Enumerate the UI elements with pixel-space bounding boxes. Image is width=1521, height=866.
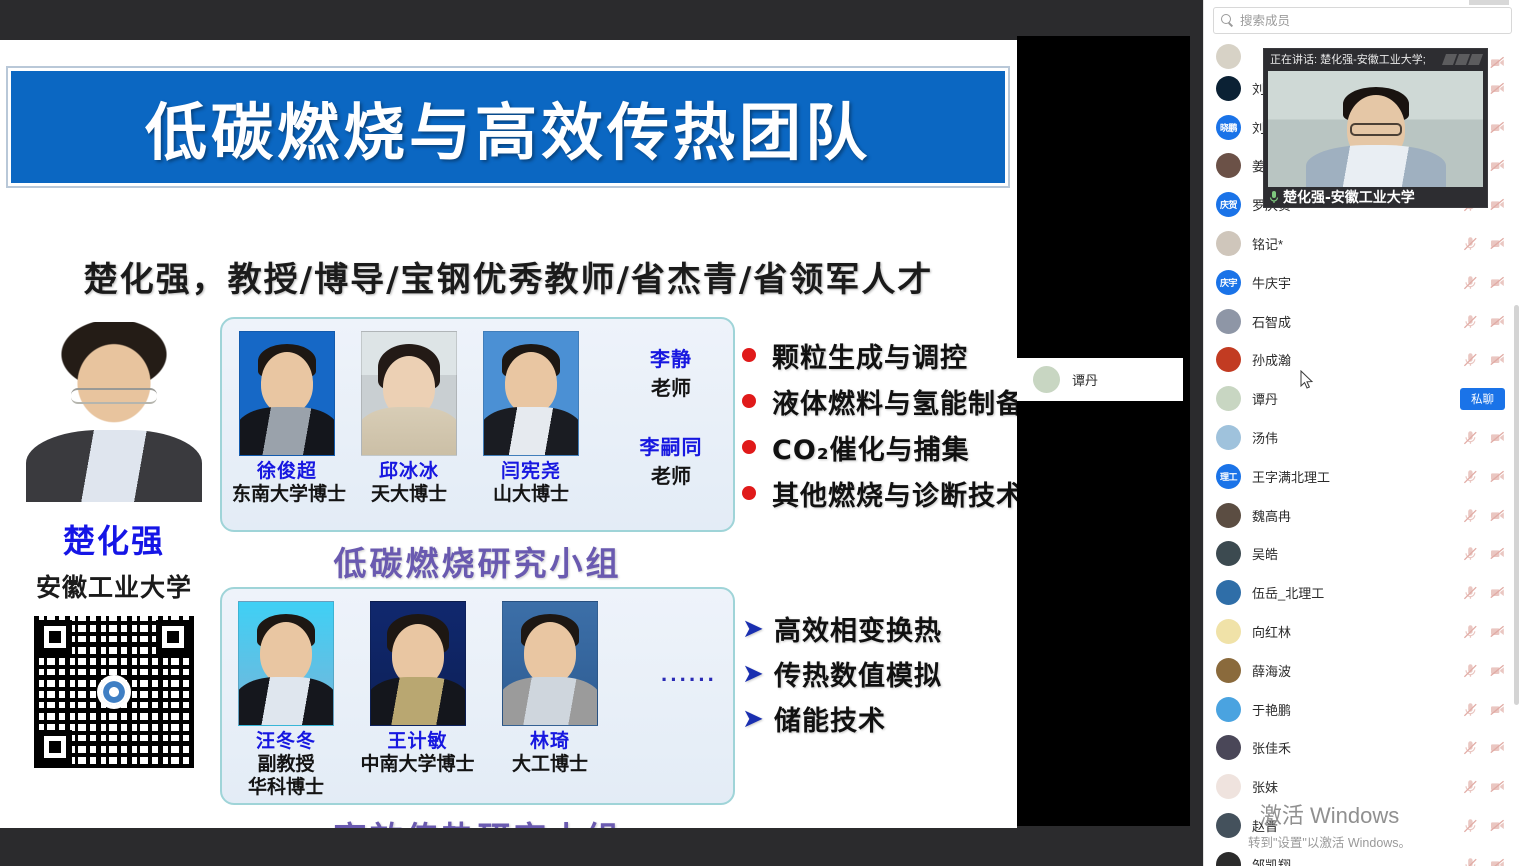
research-topics-list-2: ➤高效相变换热 ➤传热数值模拟 ➤储能技术: [742, 606, 942, 741]
pinned-participant-name: 谭丹: [1072, 370, 1183, 389]
topic-label: 其他燃烧与诊断技术: [772, 474, 1017, 513]
mic-muted-icon[interactable]: [1463, 509, 1478, 522]
participant-row[interactable]: 吴皓: [1204, 535, 1521, 574]
topic-label: CO₂催化与捕集: [772, 428, 970, 467]
participant-row-icons: [1463, 547, 1505, 560]
mic-muted-icon[interactable]: [1463, 819, 1478, 832]
video-off-icon[interactable]: [1490, 509, 1505, 522]
participant-row-icons: [1463, 819, 1505, 832]
teacher-name: 李静: [621, 343, 721, 372]
topic-label: 颗粒生成与调控: [772, 336, 968, 375]
video-off-icon[interactable]: [1490, 586, 1505, 599]
member-detail: 天大博士: [354, 483, 464, 506]
participant-row[interactable]: 石智成: [1204, 302, 1521, 341]
participant-row[interactable]: 薛海波: [1204, 651, 1521, 690]
topic-label: 储能技术: [774, 699, 886, 738]
video-off-icon[interactable]: [1490, 780, 1505, 793]
participant-row-icons: [1463, 858, 1505, 866]
mic-muted-icon[interactable]: [1463, 431, 1478, 444]
search-area: [1204, 0, 1521, 34]
mic-muted-icon[interactable]: [1463, 664, 1478, 677]
participant-row-icons: [1463, 315, 1505, 328]
topic-label: 传热数值模拟: [774, 654, 942, 693]
research-topic-item: 颗粒生成与调控: [742, 332, 1017, 378]
participant-row-icons: [1463, 780, 1505, 793]
more-members-ellipsis: ······: [661, 667, 717, 693]
participant-row[interactable]: 张妹: [1204, 767, 1521, 806]
slide-subtitle: 楚化强，教授/博导/宝钢优秀教师/省杰青/省领军人才: [0, 252, 1017, 301]
app-root: 低碳燃烧与高效传热团队 楚化强，教授/博导/宝钢优秀教师/省杰青/省领军人才 楚…: [0, 0, 1521, 866]
member-card: 汪冬冬 副教授 华科博士: [230, 601, 342, 798]
participant-row-icons: [1463, 237, 1505, 250]
mic-muted-icon[interactable]: [1463, 315, 1478, 328]
window-controls-icon[interactable]: [1444, 54, 1481, 65]
participant-row-icons: [1463, 741, 1505, 754]
active-speaker-label: 正在讲话: 楚化强-安徽工业大学;: [1270, 51, 1426, 67]
member-card: 林琦 大工博士: [494, 601, 606, 776]
research-topic-item: ➤传热数值模拟: [742, 651, 942, 696]
video-off-icon[interactable]: [1490, 121, 1505, 134]
member-card: 王计敏 中南大学博士: [355, 601, 480, 776]
member-card: 邱冰冰 天大博士: [354, 331, 464, 506]
video-off-icon[interactable]: [1490, 664, 1505, 677]
participant-row-icons: [1463, 276, 1505, 289]
mic-muted-icon[interactable]: [1463, 237, 1478, 250]
qr-code-image: [34, 616, 194, 768]
participant-name: 汤伟: [1252, 428, 1463, 447]
avatar: [1216, 309, 1241, 334]
research-group-1-box: 徐俊超 东南大学博士 邱冰冰 天大博士: [220, 317, 735, 532]
participant-name: 石智成: [1252, 312, 1463, 331]
video-off-icon[interactable]: [1490, 56, 1505, 69]
avatar: [1216, 153, 1241, 178]
participant-row[interactable]: 孙成瀚: [1204, 341, 1521, 380]
avatar: 庆宇: [1216, 270, 1241, 295]
mic-muted-icon[interactable]: [1463, 547, 1478, 560]
bullet-dot-icon: [742, 486, 756, 500]
mic-muted-icon[interactable]: [1463, 703, 1478, 716]
participant-name: 牛庆宇: [1252, 273, 1463, 292]
participant-row[interactable]: 赵晋: [1204, 806, 1521, 845]
topic-label: 液体燃料与氢能制备: [772, 382, 1017, 421]
participant-row[interactable]: 汤伟: [1204, 418, 1521, 457]
panel-top-stub: [1469, 0, 1509, 5]
mic-on-icon: [1269, 190, 1279, 204]
speaker-name: 楚化强-安徽工业大学: [1283, 187, 1415, 207]
participant-name: 王字满北理工: [1252, 467, 1463, 486]
participant-row[interactable]: 伍岳_北理工: [1204, 573, 1521, 612]
avatar: 庆贺: [1216, 192, 1241, 217]
research-topics-list-1: 颗粒生成与调控 液体燃料与氢能制备 CO₂催化与捕集 其他燃烧与诊断技术: [742, 332, 1017, 516]
member-photo: [361, 331, 457, 456]
participant-row[interactable]: 邹凯翔: [1204, 845, 1521, 866]
video-off-icon[interactable]: [1490, 159, 1505, 172]
video-off-icon[interactable]: [1490, 431, 1505, 444]
avatar: [1216, 813, 1241, 838]
participant-row-icons: [1463, 470, 1505, 483]
avatar: [1216, 425, 1241, 450]
member-detail: 中南大学博士: [355, 753, 480, 776]
avatar: [1033, 366, 1060, 393]
video-off-icon[interactable]: [1490, 703, 1505, 716]
video-off-icon[interactable]: [1490, 625, 1505, 638]
member-detail: 大工博士: [494, 753, 606, 776]
member-photo: [502, 601, 598, 726]
participant-row[interactable]: 庆宇牛庆宇: [1204, 263, 1521, 302]
research-group-2-box: 汪冬冬 副教授 华科博士 王计敏 中南大学博士: [220, 587, 735, 805]
avatar: 理工: [1216, 464, 1241, 489]
chevron-right-icon: ➤: [742, 616, 760, 642]
avatar: [1216, 735, 1241, 760]
video-off-icon[interactable]: [1490, 547, 1505, 560]
member-detail: 东南大学博士: [232, 483, 342, 506]
video-off-icon[interactable]: [1490, 237, 1505, 250]
participant-name: 于艳鹏: [1252, 700, 1463, 719]
participant-name: 张妹: [1252, 777, 1463, 796]
bullet-dot-icon: [742, 394, 756, 408]
participant-name: 邹凯翔: [1252, 855, 1463, 866]
video-feed: [1268, 71, 1483, 187]
search-icon: [1221, 14, 1234, 27]
mic-muted-icon[interactable]: [1463, 780, 1478, 793]
teacher-name: 李嗣同: [621, 431, 721, 460]
member-card: 徐俊超 东南大学博士: [232, 331, 342, 506]
research-topic-item: 其他燃烧与诊断技术: [742, 470, 1017, 516]
member-name: 徐俊超: [232, 461, 342, 483]
video-off-icon[interactable]: [1490, 819, 1505, 832]
participant-row[interactable]: 魏高冉: [1204, 496, 1521, 535]
avatar: [1216, 347, 1241, 372]
leader-name: 楚化强: [16, 516, 212, 562]
video-name-bar: 楚化强-安徽工业大学: [1264, 187, 1487, 207]
video-off-icon[interactable]: [1490, 82, 1505, 95]
participant-row[interactable]: 向红林: [1204, 612, 1521, 651]
avatar: [1216, 774, 1241, 799]
participant-name: 孙成瀚: [1252, 350, 1463, 369]
participant-row-icons: [1463, 586, 1505, 599]
topic-label: 高效相变换热: [774, 609, 942, 648]
leader-organization: 安徽工业大学: [16, 568, 212, 604]
participant-name: 伍岳_北理工: [1252, 583, 1463, 602]
avatar: 晓鹏: [1216, 115, 1241, 140]
shared-screen-stage: 低碳燃烧与高效传热团队 楚化强，教授/博导/宝钢优秀教师/省杰青/省领军人才 楚…: [0, 0, 1190, 866]
avatar: [1216, 658, 1241, 683]
participant-name: 薛海波: [1252, 661, 1463, 680]
mic-muted-icon[interactable]: [1463, 625, 1478, 638]
video-off-icon[interactable]: [1490, 858, 1505, 866]
participant-list-scrollbar[interactable]: [1514, 305, 1519, 705]
search-input[interactable]: [1240, 14, 1504, 28]
teacher-role: 老师: [621, 460, 721, 489]
video-off-icon[interactable]: [1490, 198, 1505, 211]
participant-row[interactable]: 铭记*: [1204, 224, 1521, 263]
participant-name: 张佳禾: [1252, 738, 1463, 757]
private-chat-button[interactable]: 私聊: [1460, 388, 1505, 410]
video-off-icon[interactable]: [1490, 315, 1505, 328]
avatar: [1216, 231, 1241, 256]
mic-muted-icon[interactable]: [1463, 470, 1478, 483]
member-detail-2: 华科博士: [230, 776, 342, 799]
participant-row-icons: [1463, 664, 1505, 677]
slide-title: 低碳燃烧与高效传热团队: [145, 82, 871, 172]
member-photo: [239, 331, 335, 456]
participant-row[interactable]: 于艳鹏: [1204, 690, 1521, 729]
participant-name: 铭记*: [1252, 234, 1463, 253]
research-topic-item: CO₂催化与捕集: [742, 424, 1017, 470]
member-detail: 副教授: [230, 753, 342, 776]
avatar: [1216, 386, 1241, 411]
participant-row-icons: [1463, 431, 1505, 444]
search-box[interactable]: [1213, 7, 1512, 34]
member-card: 闫宪尧 山大博士: [476, 331, 586, 506]
member-photo: [370, 601, 466, 726]
teacher-role: 老师: [621, 372, 721, 401]
active-speaker-header: 正在讲话: 楚化强-安徽工业大学;: [1264, 49, 1487, 69]
mic-muted-icon[interactable]: [1463, 276, 1478, 289]
participant-name: 谭丹: [1252, 389, 1460, 408]
participant-row-icons: [1463, 509, 1505, 522]
video-off-icon[interactable]: [1490, 276, 1505, 289]
avatar: [1216, 852, 1241, 866]
video-off-icon[interactable]: [1490, 470, 1505, 483]
leader-portrait: [19, 322, 209, 502]
presentation-slide: 低碳燃烧与高效传热团队 楚化强，教授/博导/宝钢优秀教师/省杰青/省领军人才 楚…: [0, 40, 1017, 828]
mic-muted-icon[interactable]: [1463, 858, 1478, 866]
avatar: [1216, 76, 1241, 101]
video-off-icon[interactable]: [1490, 353, 1505, 366]
member-name: 林琦: [494, 731, 606, 753]
research-group-1-caption: 低碳燃烧研究小组: [220, 537, 735, 585]
member-name: 邱冰冰: [354, 461, 464, 483]
team-leader-block: 楚化强 安徽工业大学: [16, 322, 212, 768]
participant-row-icons: [1463, 625, 1505, 638]
bullet-dot-icon: [742, 440, 756, 454]
group-1-teachers: 李静 老师 李嗣同 老师: [621, 343, 721, 489]
chevron-right-icon: ➤: [742, 661, 760, 687]
participant-row[interactable]: 谭丹私聊: [1204, 379, 1521, 418]
avatar: [1216, 503, 1241, 528]
research-topic-item: ➤高效相变换热: [742, 606, 942, 651]
research-group-2-caption: 高效传热研究小组: [220, 812, 735, 828]
avatar: [1216, 619, 1241, 644]
member-name: 王计敏: [355, 731, 480, 753]
research-topic-item: 液体燃料与氢能制备: [742, 378, 1017, 424]
avatar: [1216, 697, 1241, 722]
participant-name: 向红林: [1252, 622, 1463, 641]
video-off-icon[interactable]: [1490, 741, 1505, 754]
avatar: [1216, 44, 1241, 69]
participant-row[interactable]: 理工王字满北理工: [1204, 457, 1521, 496]
stage-black-filler: [1017, 36, 1190, 826]
bullet-dot-icon: [742, 348, 756, 362]
participant-row-icons: [1463, 703, 1505, 716]
participant-name: 魏高冉: [1252, 506, 1463, 525]
participant-row[interactable]: 张佳禾: [1204, 729, 1521, 768]
member-photo: [483, 331, 579, 456]
member-photo: [238, 601, 334, 726]
slide-title-band: 低碳燃烧与高效传热团队: [8, 68, 1008, 186]
participant-name: 赵晋: [1252, 816, 1463, 835]
mic-muted-icon[interactable]: [1463, 741, 1478, 754]
pinned-participant-tile[interactable]: 谭丹: [1017, 358, 1183, 401]
avatar: [1216, 541, 1241, 566]
participant-name: 吴皓: [1252, 544, 1463, 563]
chevron-right-icon: ➤: [742, 706, 760, 732]
research-topic-item: ➤储能技术: [742, 696, 942, 741]
active-speaker-video-overlay[interactable]: 正在讲话: 楚化强-安徽工业大学; 楚化强-安徽工业大学: [1263, 48, 1488, 208]
member-detail: 山大博士: [476, 483, 586, 506]
member-name: 汪冬冬: [230, 731, 342, 753]
mic-muted-icon[interactable]: [1463, 353, 1478, 366]
member-name: 闫宪尧: [476, 461, 586, 483]
avatar: [1216, 580, 1241, 605]
participant-row-icons: [1463, 353, 1505, 366]
mic-muted-icon[interactable]: [1463, 586, 1478, 599]
